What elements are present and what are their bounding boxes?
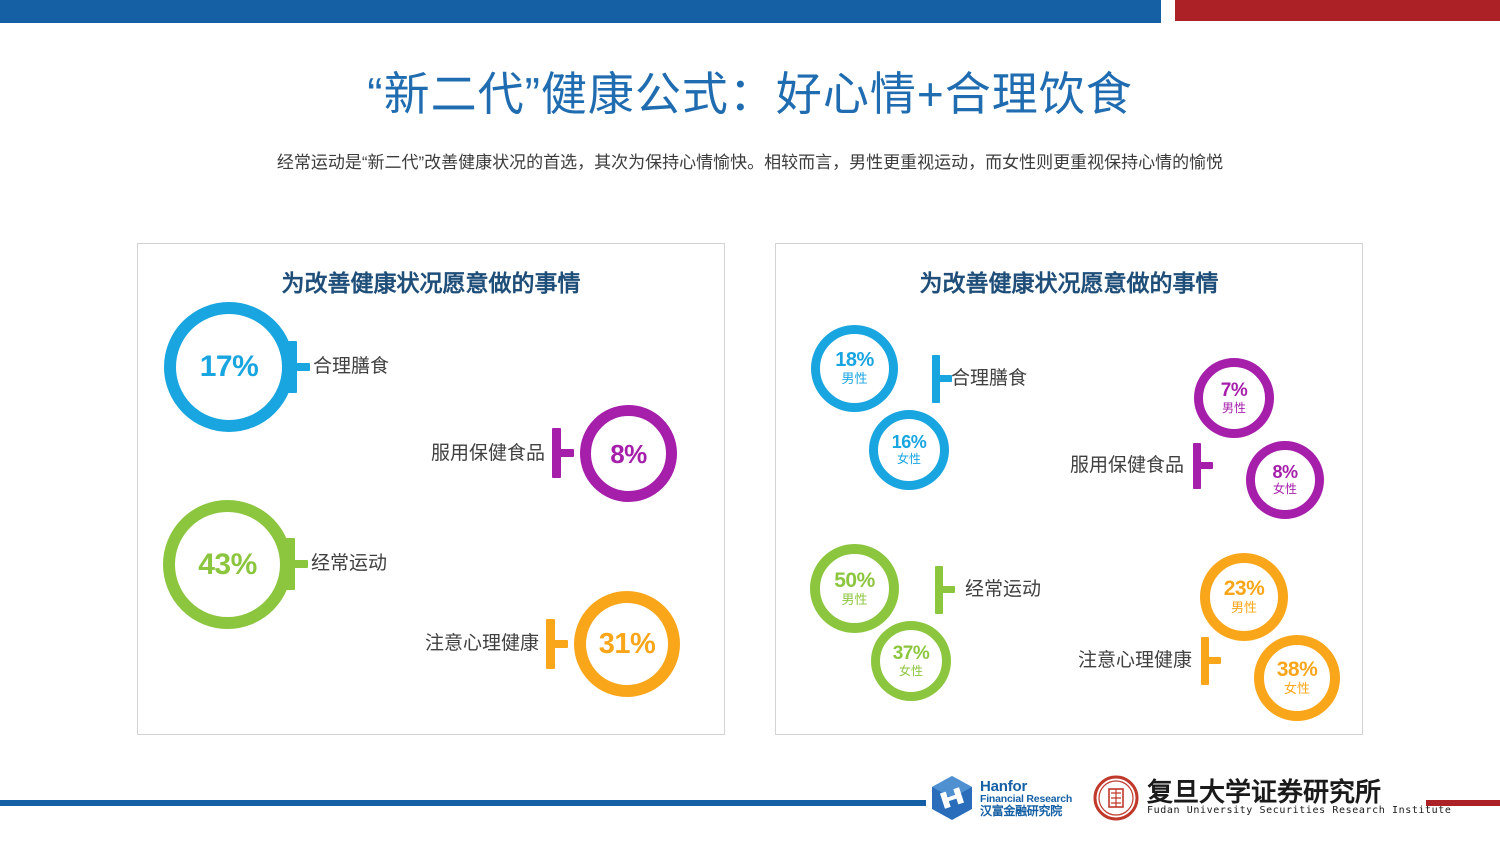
hanfor-logo-text: Hanfor Financial Research 汉富金融研究院 [980, 779, 1072, 817]
panel-title-overall: 为改善健康状况愿意做的事情 [138, 264, 724, 298]
ring-value-gender-exercise-male: 50% [834, 570, 875, 591]
logo-fudan-securities-research-institute: 复旦大学证券研究所 Fudan University Securities Re… [1093, 770, 1413, 826]
label-overall-mental-health: 注意心理健康 [296, 634, 539, 653]
top-accent-bar-blue [0, 0, 1161, 23]
connector-tick-overall-exercise [286, 560, 308, 568]
ring-value-gender-mental-health-female: 38% [1277, 659, 1318, 680]
hanfor-logo-icon [928, 774, 976, 822]
ring-sex-gender-exercise-female: 女性 [899, 665, 923, 679]
ring-overall-diet: 17% [164, 302, 294, 432]
fudan-logo-text: 复旦大学证券研究所 Fudan University Securities Re… [1147, 779, 1452, 817]
ring-gender-mental-health-male: 23% 男性 [1200, 553, 1288, 641]
label-gender-mental-health: 注意心理健康 [952, 651, 1192, 670]
fudan-seal-icon [1093, 775, 1139, 821]
ring-sex-gender-diet-male: 男性 [841, 372, 867, 387]
logo-hanfor-financial-research: Hanfor Financial Research 汉富金融研究院 [928, 772, 1086, 824]
panel-title-by-gender: 为改善健康状况愿意做的事情 [776, 264, 1362, 298]
label-overall-exercise: 经常运动 [311, 554, 387, 573]
ring-value-gender-mental-health-male: 23% [1224, 578, 1265, 599]
fudan-logo-en: Fudan University Securities Research Ins… [1147, 806, 1452, 817]
ring-value-gender-diet-male: 18% [835, 350, 874, 370]
ring-gender-supplements-male: 7% 男性 [1194, 358, 1274, 438]
ring-value-overall-supplements: 8% [610, 441, 647, 467]
ring-sex-gender-supplements-male: 男性 [1222, 402, 1246, 416]
ring-overall-supplements: 8% [580, 405, 677, 502]
ring-value-overall-exercise: 43% [198, 550, 257, 580]
hanfor-logo-line3: 汉富金融研究院 [980, 805, 1072, 817]
top-accent-bar-red [1175, 0, 1500, 21]
connector-tick-gender-diet [932, 375, 952, 382]
connector-tick-gender-mental-health [1201, 657, 1221, 664]
page-subtitle: 经常运动是“新二代”改善健康状况的首选，其次为保持心情愉快。相较而言，男性更重视… [0, 148, 1500, 173]
connector-tick-overall-supplements [552, 449, 574, 457]
ring-gender-supplements-female: 8% 女性 [1246, 441, 1324, 519]
connector-tick-gender-supplements [1193, 462, 1213, 469]
ring-value-gender-supplements-male: 7% [1221, 381, 1247, 400]
fudan-logo-cn: 复旦大学证券研究所 [1147, 779, 1452, 806]
ring-gender-diet-female: 16% 女性 [869, 410, 949, 490]
ring-value-gender-exercise-female: 37% [893, 644, 930, 663]
label-gender-exercise: 经常运动 [965, 580, 1041, 599]
ring-value-overall-diet: 17% [200, 352, 259, 382]
ring-value-gender-supplements-female: 8% [1272, 463, 1297, 481]
footer-accent-line-blue [0, 800, 926, 806]
ring-sex-gender-diet-female: 女性 [897, 453, 921, 467]
ring-gender-mental-health-female: 38% 女性 [1254, 635, 1340, 721]
ring-gender-diet-male: 18% 男性 [811, 325, 898, 412]
ring-gender-exercise-female: 37% 女性 [871, 621, 951, 701]
ring-sex-gender-mental-health-male: 男性 [1231, 601, 1257, 616]
connector-tick-overall-mental-health [546, 640, 568, 648]
ring-value-gender-diet-female: 16% [892, 433, 927, 451]
label-overall-diet: 合理膳食 [313, 357, 389, 376]
ring-value-overall-mental-health: 31% [599, 630, 656, 659]
ring-gender-exercise-male: 50% 男性 [810, 544, 899, 633]
label-gender-diet: 合理膳食 [951, 369, 1027, 388]
label-overall-supplements: 服用保健食品 [302, 444, 545, 463]
hanfor-logo-line1: Hanfor [980, 779, 1072, 794]
ring-sex-gender-exercise-male: 男性 [841, 593, 867, 608]
connector-tick-gender-exercise [935, 586, 955, 593]
page-title: “新二代”健康公式：好心情+合理饮食 [0, 66, 1500, 124]
ring-overall-exercise: 43% [163, 500, 292, 629]
label-gender-supplements: 服用保健食品 [944, 456, 1184, 475]
ring-sex-gender-mental-health-female: 女性 [1284, 682, 1310, 697]
connector-tick-overall-diet [288, 363, 310, 371]
ring-overall-mental-health: 31% [574, 591, 680, 697]
ring-sex-gender-supplements-female: 女性 [1273, 483, 1297, 497]
